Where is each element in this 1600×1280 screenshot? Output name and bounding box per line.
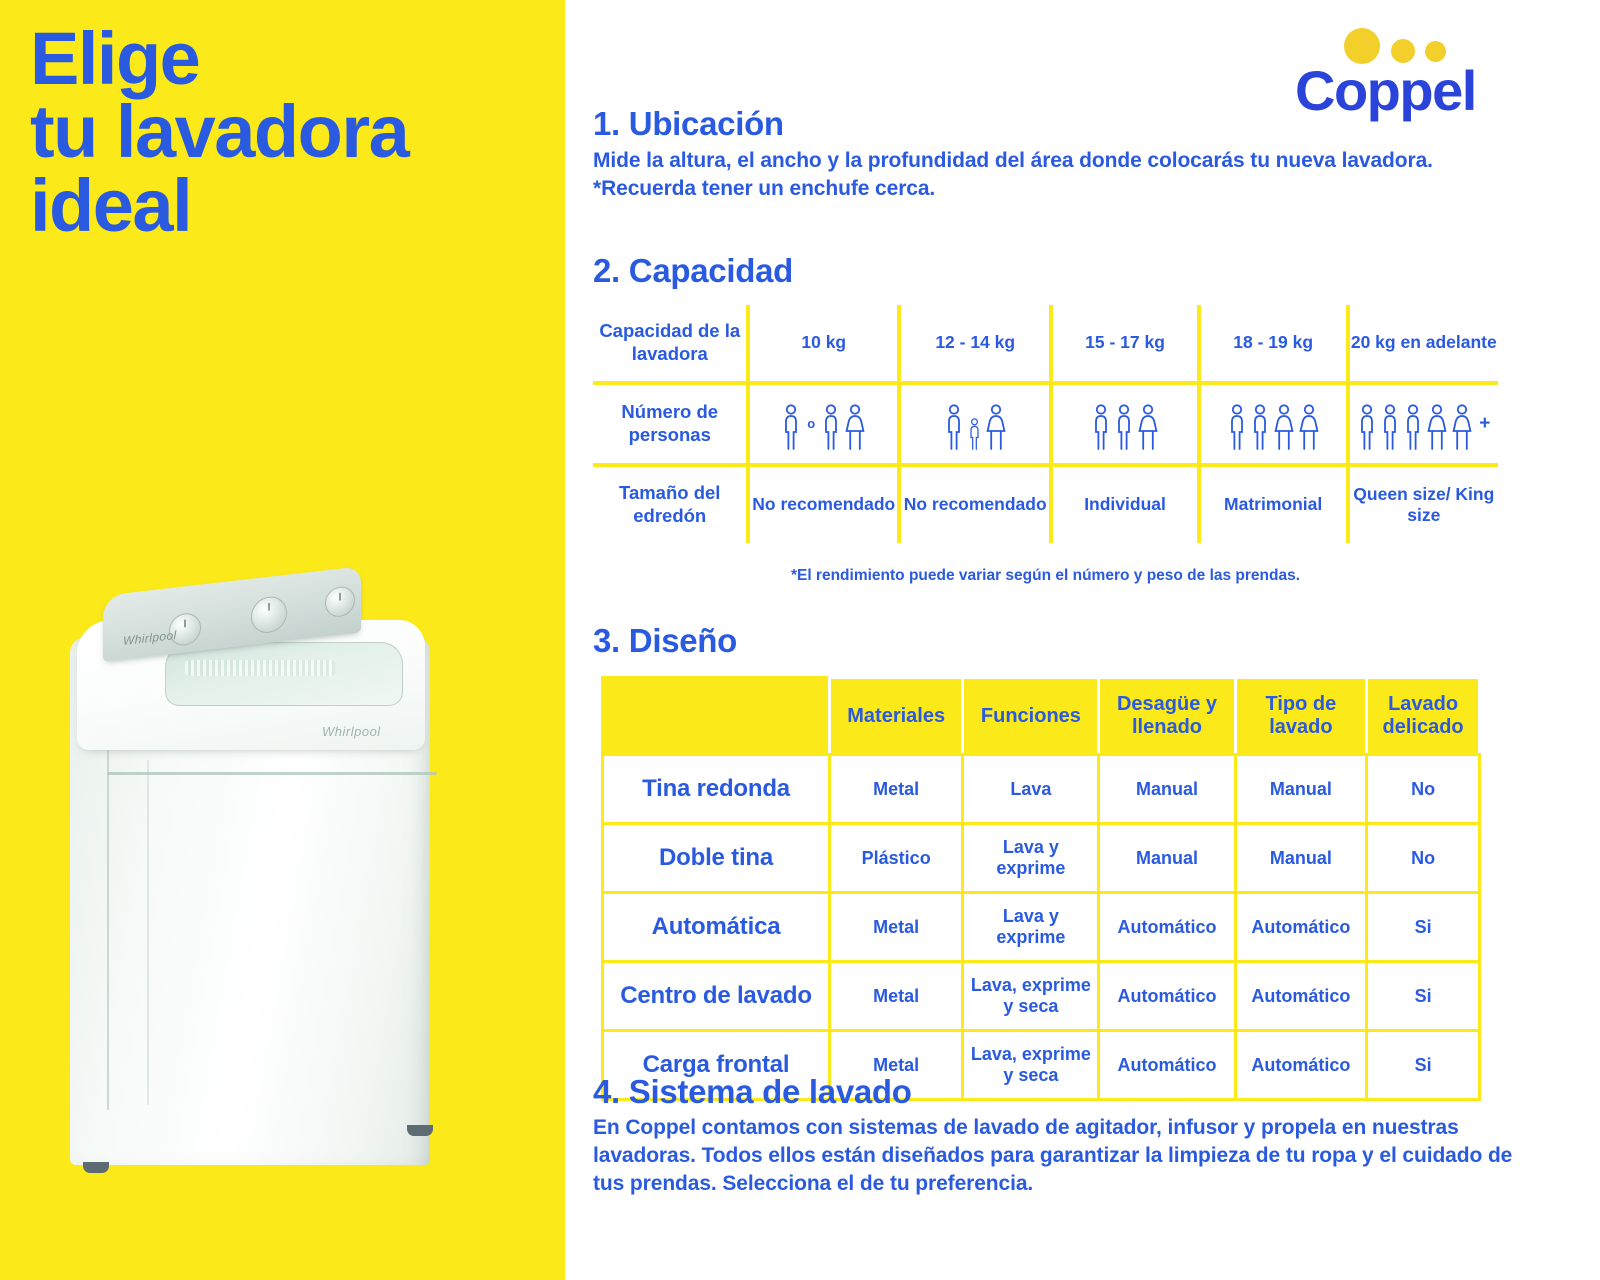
person-man-icon [1403,404,1423,450]
people-plus-sign: + [1476,412,1490,435]
section-1-line-1: Mide la altura, el ancho y la profundida… [593,147,1573,175]
washer-lid-seam [107,772,437,775]
headline-line-3: ideal [30,169,550,242]
table-row-edredon: Tamaño del edredón No recomendado No rec… [593,465,1498,543]
capacity-footnote: *El rendimiento puede variar según el nú… [593,567,1498,585]
people-cell-2 [899,383,1051,465]
design-header-desague: Desagüe y llenado [1099,678,1235,755]
table-row: AutomáticaMetalLava y exprimeAutomáticoA… [603,893,1480,962]
design-cell-r4-name: Centro de lavado [603,962,830,1031]
design-cell-r1-delicado: No [1367,755,1480,824]
design-header-materiales: Materiales [830,678,963,755]
person-man-icon [1380,404,1400,450]
people-cell-5: + [1348,383,1498,465]
design-cell-r1-tipo: Manual [1235,755,1367,824]
table-row: Centro de lavadoMetalLava, exprime y sec… [603,962,1480,1031]
people-separator-o: o [804,416,818,432]
people-cell-3 [1051,383,1198,465]
design-cell-r4-funciones: Lava, exprime y seca [963,962,1099,1031]
capacity-cell-3: 15 - 17 kg [1051,305,1198,383]
people-icon-group-4 [1201,398,1346,450]
capacity-table: Capacidad de la lavadora 10 kg 12 - 14 k… [593,305,1498,543]
design-cell-r4-desague: Automático [1099,962,1235,1031]
section-2-title: 2. Capacidad [593,252,793,290]
people-cell-4 [1199,383,1348,465]
washer-body-seam-1 [107,740,109,1110]
people-icon-group-2 [901,398,1049,450]
design-cell-r2-materiales: Plástico [830,824,963,893]
people-row-label: Número de personas [593,383,748,465]
design-header-corner [603,678,830,755]
washer-body-seam-2 [147,760,149,1105]
person-man-icon [944,404,964,450]
washer-foot-right [407,1125,433,1136]
section-1-title: 1. Ubicación [593,105,1573,143]
design-cell-r4-tipo: Automático [1235,962,1367,1031]
person-woman-icon [1298,404,1320,450]
capacity-cell-2: 12 - 14 kg [899,305,1051,383]
design-cell-r3-funciones: Lava y exprime [963,893,1099,962]
washer-drum-hatch [185,660,335,676]
duvet-cell-2: No recomendado [899,465,1051,543]
design-cell-r2-delicado: No [1367,824,1480,893]
design-cell-r3-name: Automática [603,893,830,962]
person-woman-icon [844,404,866,450]
section-4-body: En Coppel contamos con sistemas de lavad… [593,1114,1533,1198]
content-panel: Coppel 1. Ubicación Mide la altura, el a… [565,0,1600,1280]
design-cell-r3-tipo: Automático [1235,893,1367,962]
section-ubicacion: 1. Ubicación Mide la altura, el ancho y … [593,105,1573,203]
headline-line-2: tu lavadora [30,95,550,168]
person-man-icon [781,404,801,450]
capacity-cell-5: 20 kg en adelante [1348,305,1498,383]
section-3-title: 3. Diseño [593,622,737,660]
page-title: Elige tu lavadora ideal [30,22,550,242]
table-row-personas: Número de personas o + [593,383,1498,465]
people-icon-group-3 [1053,398,1196,450]
design-cell-r3-materiales: Metal [830,893,963,962]
person-man-icon [1091,404,1111,450]
washer-knob-center [251,595,287,635]
person-woman-icon [1451,404,1473,450]
design-cell-r3-desague: Automático [1099,893,1235,962]
design-cell-r4-delicado: Si [1367,962,1480,1031]
left-yellow-panel: Elige tu lavadora ideal Whirlpool Whirlp… [0,0,565,1280]
person-woman-icon [1426,404,1448,450]
person-man-icon [821,404,841,450]
design-cell-r1-funciones: Lava [963,755,1099,824]
duvet-cell-3: Individual [1051,465,1198,543]
design-cell-r2-funciones: Lava y exprime [963,824,1099,893]
section-1-line-2: *Recuerda tener un enchufe cerca. [593,175,1573,203]
design-cell-r2-name: Doble tina [603,824,830,893]
design-cell-r1-materiales: Metal [830,755,963,824]
design-table-body: Tina redondaMetalLavaManualManualNoDoble… [603,755,1480,1100]
person-man-icon [1114,404,1134,450]
section-4-title: 4. Sistema de lavado [593,1073,1533,1111]
design-header-lavado-delicado: Lavado delicado [1367,678,1480,755]
person-child-icon [967,418,982,450]
design-cell-r2-desague: Manual [1099,824,1235,893]
duvet-cell-5: Queen size/ King size [1348,465,1498,543]
design-cell-r3-delicado: Si [1367,893,1480,962]
design-header-tipo-lavado: Tipo de lavado [1235,678,1367,755]
duvet-cell-1: No recomendado [748,465,899,543]
people-cell-1: o [748,383,899,465]
table-row: Tina redondaMetalLavaManualManualNo [603,755,1480,824]
design-cell-r1-desague: Manual [1099,755,1235,824]
design-cell-r4-materiales: Metal [830,962,963,1031]
duvet-cell-4: Matrimonial [1199,465,1348,543]
capacity-cell-1: 10 kg [748,305,899,383]
duvet-row-label: Tamaño del edredón [593,465,748,543]
person-man-icon [1357,404,1377,450]
section-sistema-de-lavado: 4. Sistema de lavado En Coppel contamos … [593,1073,1533,1198]
people-icon-group-5: + [1350,398,1498,450]
design-header-funciones: Funciones [963,678,1099,755]
washer-lid-brand-text: Whirlpool [322,724,381,739]
washer-knob-right [325,585,355,618]
table-row: Doble tinaPlásticoLava y exprimeManualMa… [603,824,1480,893]
capacity-cell-4: 18 - 19 kg [1199,305,1348,383]
washing-machine-image: Whirlpool Whirlpool [55,565,475,1205]
design-cell-r1-name: Tina redonda [603,755,830,824]
person-woman-icon [1273,404,1295,450]
design-table-header-row: Materiales Funciones Desagüe y llenado T… [603,678,1480,755]
people-icon-group-1: o [750,398,897,450]
person-man-icon [1227,404,1247,450]
person-woman-icon [1137,404,1159,450]
person-man-icon [1250,404,1270,450]
headline-line-1: Elige [30,22,550,95]
design-cell-r2-tipo: Manual [1235,824,1367,893]
design-table: Materiales Funciones Desagüe y llenado T… [601,676,1481,1101]
person-woman-icon [985,404,1007,450]
capacity-row-label: Capacidad de la lavadora [593,305,748,383]
table-row-capacidad: Capacidad de la lavadora 10 kg 12 - 14 k… [593,305,1498,383]
washer-foot-left [83,1162,109,1173]
